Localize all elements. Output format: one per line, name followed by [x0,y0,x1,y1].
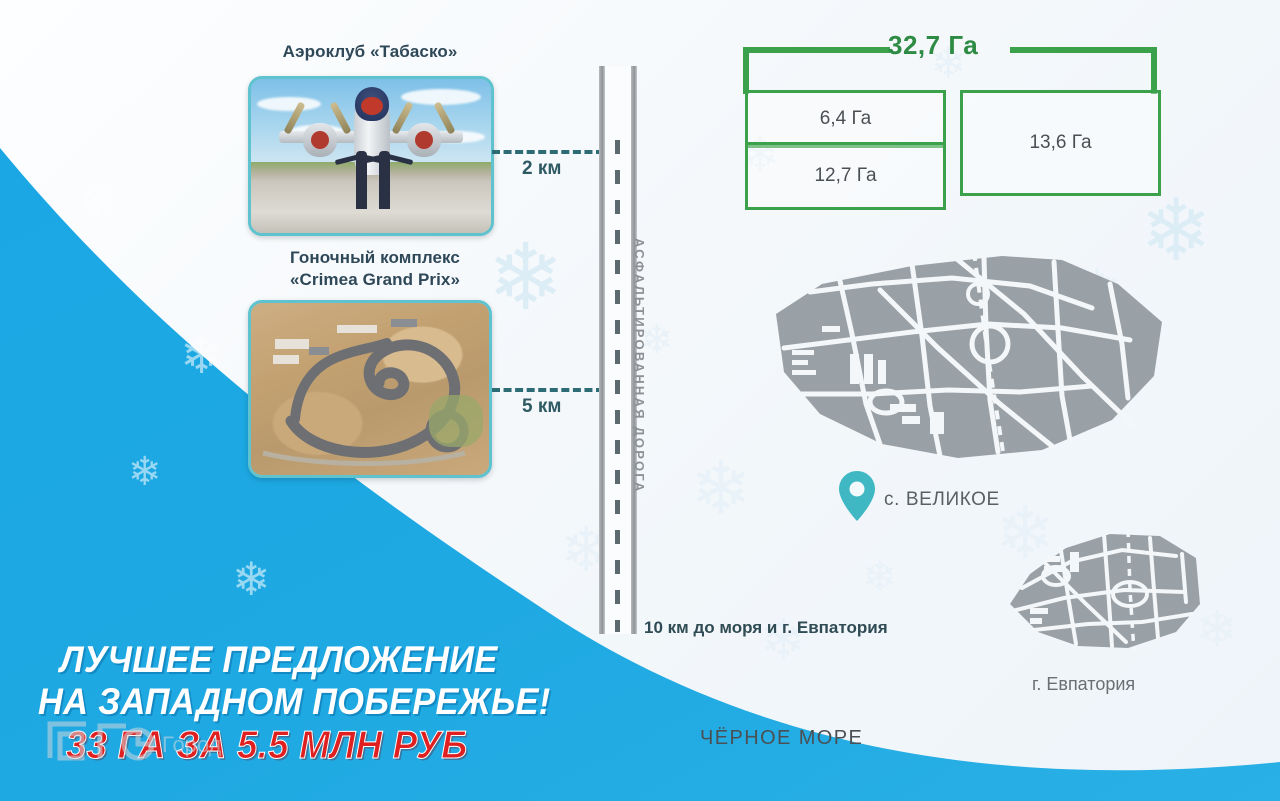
building-shape [391,319,417,327]
distance-line-5km [492,388,604,392]
building-shape [337,325,377,333]
land-total-label: 32,7 Га [888,30,978,61]
plane-engine-hub [311,131,329,149]
track-photo-title-line1: Гоночный комплекс [240,248,510,268]
track-photo-title-line2: «Crimea Grand Prix» [240,270,510,290]
cloud-shape [257,97,321,111]
distance-line-2km [492,150,604,154]
map-pin-icon [838,470,876,522]
grass-patch [429,395,483,447]
evpatoria-map-silhouette [1000,518,1208,658]
land-plot-6-4: 6,4 Га [745,90,946,148]
building-shape [273,355,299,364]
land-plot-label: 6,4 Га [820,108,871,130]
land-plot-label: 13,6 Га [1029,132,1091,154]
distance-label-2km: 2 км [522,158,561,180]
road-vertical-label: АСФАЛЬТИРОВАННАЯ ДОРОГА [632,238,647,494]
price-text: 33 ГА ЗА 5.5 МЛН РУБ [66,724,467,768]
building-shape [275,339,309,349]
race-track-photo [248,300,492,478]
road-distance-note: 10 км до моря и г. Евпатория [644,618,888,638]
aeroclub-photo-title: Аэроклуб «Табаско» [240,42,500,62]
land-plot-12-7: 12,7 Га [745,142,946,210]
land-plot-label: 12,7 Га [814,165,876,187]
road-edge-left [599,66,605,634]
aeroclub-photo [248,76,494,236]
building-shape [309,347,329,355]
headline-line-1: ЛУЧШЕЕ ПРЕДЛОЖЕНИЕ [60,640,497,680]
road-center-dashes [615,140,620,632]
cloud-shape [401,89,481,105]
plane-engine-hub [415,131,433,149]
photo-tarmac [251,181,491,233]
land-plot-13-6: 13,6 Га [960,90,1161,196]
village-map-silhouette [762,244,1182,470]
village-label: с. ВЕЛИКОЕ [884,489,1000,511]
distance-label-5km: 5 км [522,396,561,418]
headline-line-2: НА ЗАПАДНОМ ПОБЕРЕЖЬЕ! [38,682,550,722]
plane-nose-ring [361,97,383,115]
evpatoria-label: г. Евпатория [1032,674,1135,695]
sea-label: ЧЁРНОЕ МОРЕ [700,727,863,750]
poster-canvas: ❄ ❄ ❄ ❄ ❄ ❄ ❄ ❄ ❄ ❄ ❄ ❄ ❄ ❄ ❄ ❄ Аэроклуб… [0,0,1280,801]
